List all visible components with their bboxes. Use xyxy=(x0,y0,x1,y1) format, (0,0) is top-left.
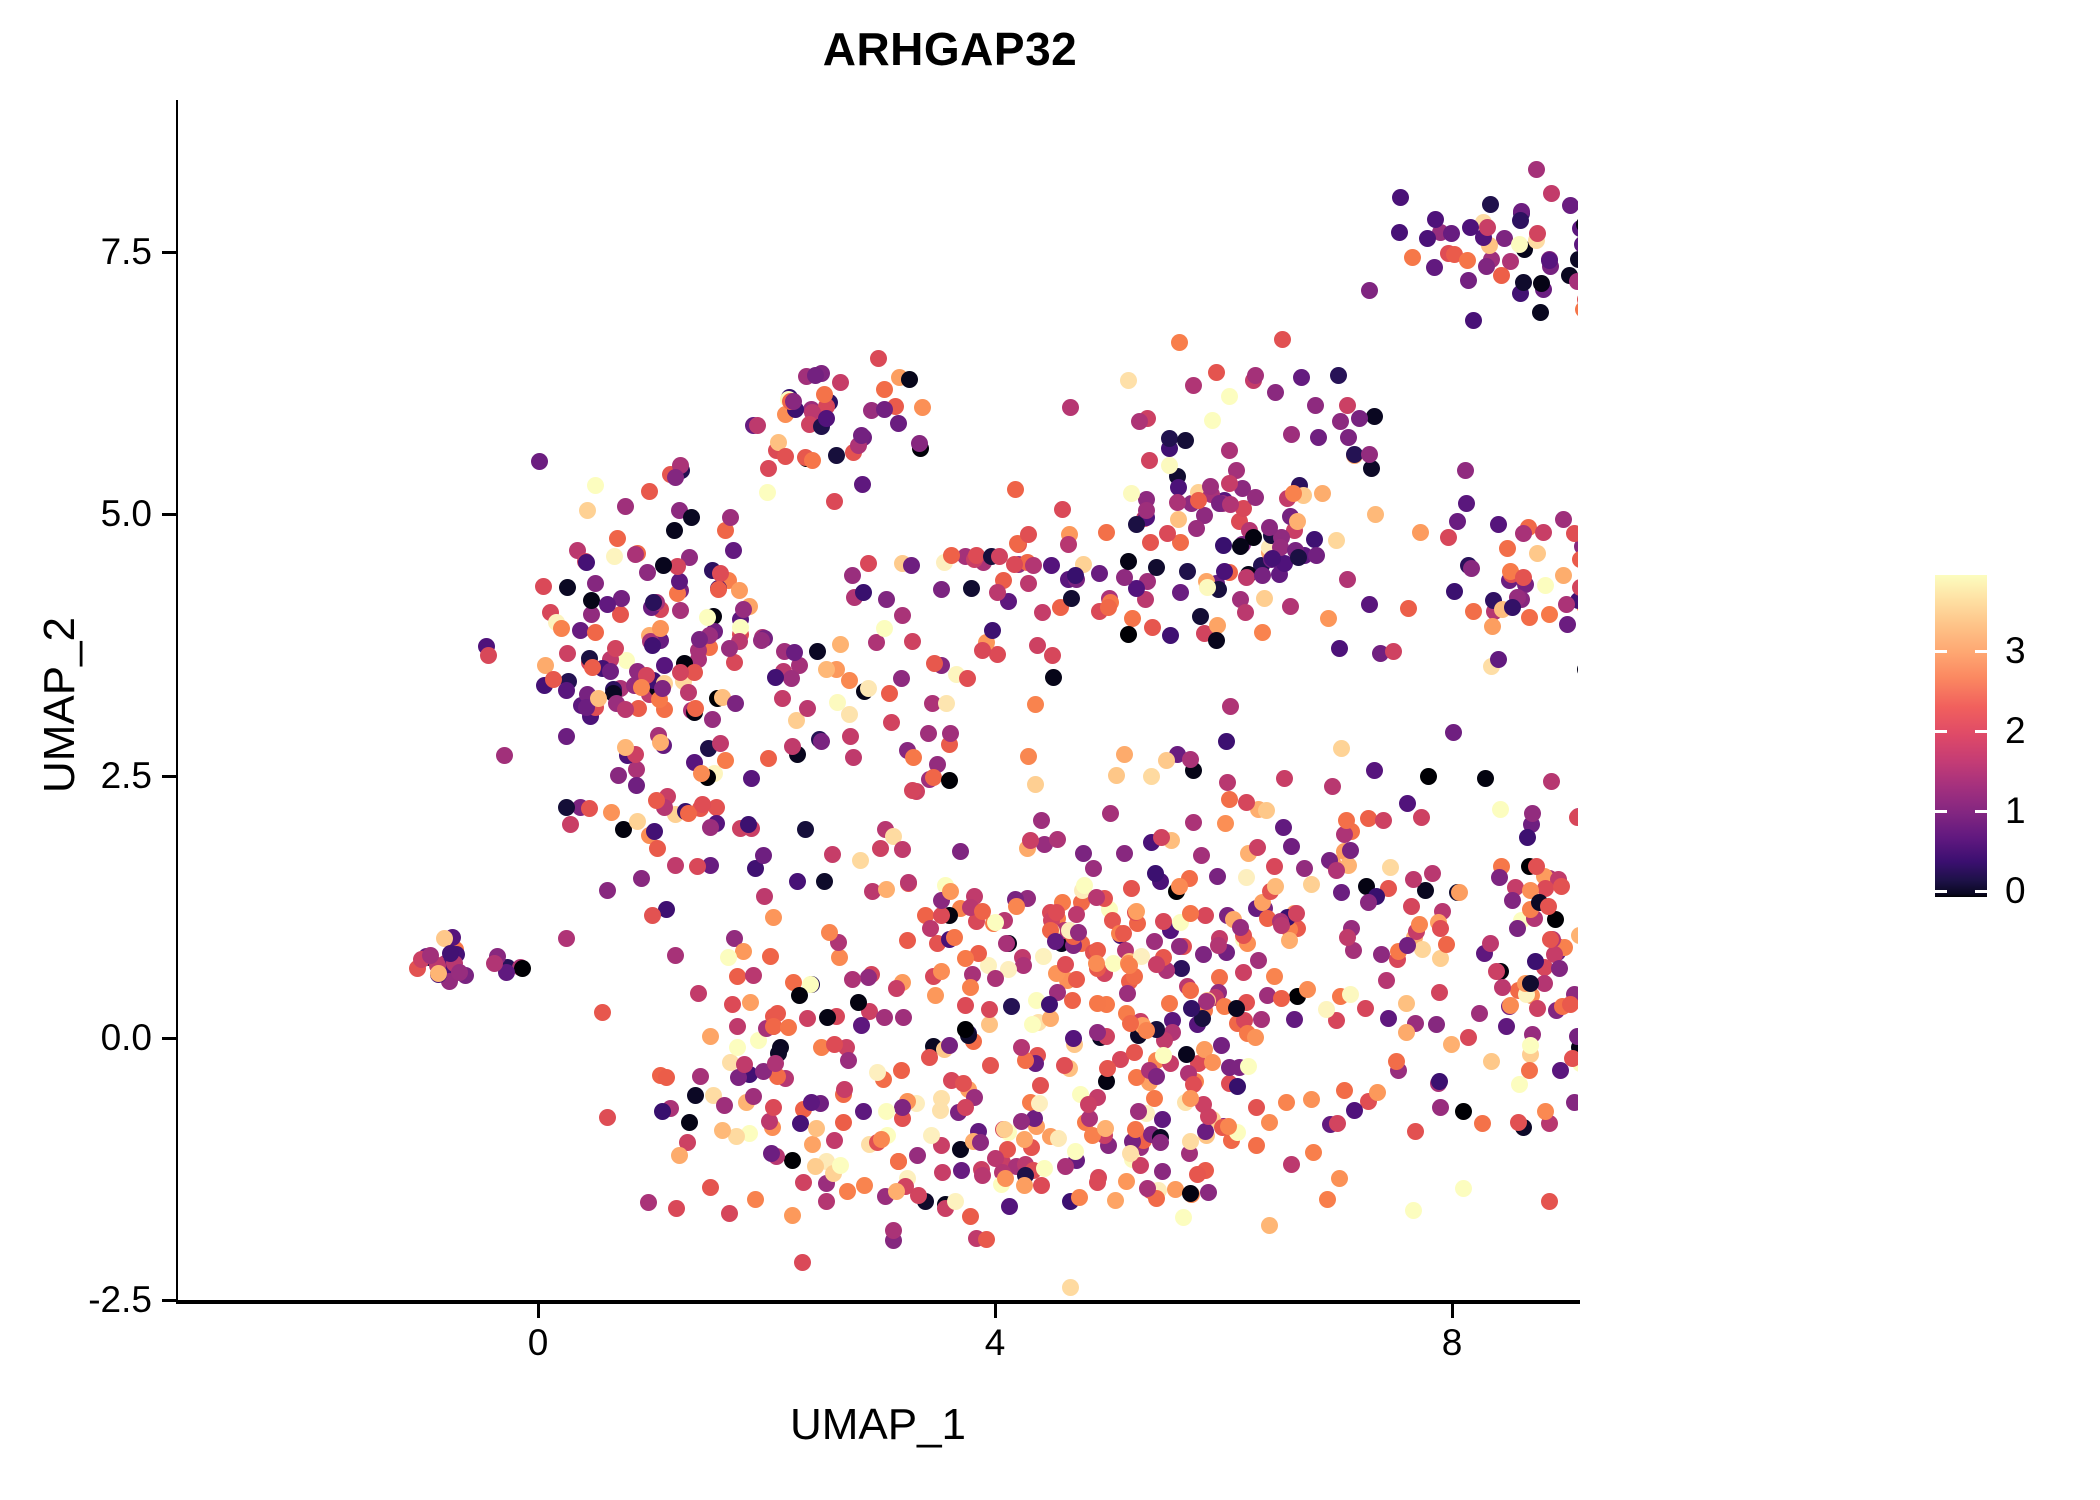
scatter-point xyxy=(1522,975,1539,992)
scatter-point xyxy=(1221,388,1238,405)
scatter-point xyxy=(804,1136,821,1153)
scatter-point xyxy=(1063,590,1080,607)
scatter-point xyxy=(1357,1000,1374,1017)
scatter-point xyxy=(1248,1099,1265,1116)
scatter-point xyxy=(731,582,748,599)
y-tick-label: 7.5 xyxy=(0,231,152,273)
scatter-point xyxy=(1566,525,1578,542)
scatter-point xyxy=(1498,1018,1515,1035)
scatter-point xyxy=(1222,496,1239,513)
scatter-point xyxy=(649,840,666,857)
scatter-point xyxy=(797,821,814,838)
scatter-point xyxy=(1558,596,1575,613)
scatter-point xyxy=(826,493,843,510)
scatter-point xyxy=(831,949,848,966)
scatter-point xyxy=(1100,599,1117,616)
scatter-point xyxy=(925,769,942,786)
scatter-point xyxy=(959,670,976,687)
scatter-point xyxy=(855,584,872,601)
scatter-point xyxy=(1562,996,1578,1013)
scatter-point xyxy=(1484,618,1501,635)
scatter-point xyxy=(1361,446,1378,463)
scatter-point xyxy=(562,816,579,833)
scatter-point xyxy=(1443,225,1460,242)
scatter-point xyxy=(850,994,867,1011)
scatter-point xyxy=(1200,1184,1217,1201)
scatter-point xyxy=(1449,513,1466,530)
scatter-point xyxy=(767,1055,784,1072)
scatter-point xyxy=(1413,809,1430,826)
scatter-point xyxy=(729,968,746,985)
scatter-point xyxy=(841,706,858,723)
scatter-point xyxy=(826,1036,843,1053)
scatter-point xyxy=(1182,1133,1199,1150)
scatter-point xyxy=(795,1174,812,1191)
scatter-point xyxy=(1331,1170,1348,1187)
scatter-point xyxy=(640,1194,657,1211)
scatter-point xyxy=(789,873,806,890)
scatter-point xyxy=(606,548,623,565)
scatter-point xyxy=(1183,1000,1200,1017)
scatter-point xyxy=(1504,892,1521,909)
scatter-point xyxy=(1076,877,1093,894)
scatter-point xyxy=(1064,992,1081,1009)
x-tick-mark xyxy=(1451,1304,1454,1318)
scatter-point xyxy=(1575,301,1578,318)
scatter-point xyxy=(1204,412,1221,429)
scatter-point xyxy=(1221,442,1238,459)
x-tick-label: 8 xyxy=(1392,1322,1512,1364)
scatter-point xyxy=(1085,860,1102,877)
scatter-point xyxy=(1431,984,1448,1001)
scatter-point xyxy=(1363,460,1380,477)
scatter-point xyxy=(1141,452,1158,469)
scatter-point xyxy=(1254,567,1271,584)
scatter-point xyxy=(1403,898,1420,915)
scatter-point xyxy=(832,636,849,653)
scatter-point xyxy=(654,680,671,697)
scatter-point xyxy=(933,581,950,598)
scatter-point xyxy=(1380,1010,1397,1027)
scatter-point xyxy=(603,804,620,821)
scatter-point xyxy=(1308,547,1325,564)
scatter-point xyxy=(1158,752,1175,769)
scatter-point xyxy=(836,1081,853,1098)
scatter-point xyxy=(894,607,911,624)
scatter-point xyxy=(1351,410,1368,427)
scatter-point xyxy=(1414,941,1431,958)
scatter-point xyxy=(1532,304,1549,321)
scatter-point xyxy=(828,447,845,464)
scatter-point xyxy=(1185,377,1202,394)
scatter-point xyxy=(1022,832,1039,849)
scatter-point xyxy=(914,399,931,416)
scatter-point xyxy=(1220,1118,1237,1135)
scatter-point xyxy=(712,735,729,752)
scatter-point xyxy=(578,554,595,571)
scatter-points-layer xyxy=(178,100,1578,1300)
scatter-point xyxy=(749,417,766,434)
scatter-point xyxy=(872,840,889,857)
scatter-point xyxy=(1057,956,1074,973)
scatter-point xyxy=(1041,996,1058,1013)
scatter-point xyxy=(558,682,575,699)
colorbar-tick-mark xyxy=(1935,650,1947,653)
scatter-point xyxy=(1003,998,1020,1015)
scatter-point xyxy=(724,996,741,1013)
scatter-point xyxy=(1192,608,1209,625)
scatter-point xyxy=(693,765,710,782)
scatter-point xyxy=(962,979,979,996)
scatter-point xyxy=(1553,878,1570,895)
scatter-point xyxy=(1182,751,1199,768)
scatter-point xyxy=(1407,1123,1424,1140)
colorbar-tick-mark xyxy=(1975,650,1987,653)
scatter-point xyxy=(1375,812,1392,829)
scatter-point xyxy=(1146,933,1163,950)
scatter-point xyxy=(1170,511,1187,528)
scatter-point xyxy=(1541,1193,1558,1210)
scatter-point xyxy=(1529,225,1546,242)
scatter-point xyxy=(1098,524,1115,541)
scatter-point xyxy=(1286,1011,1303,1028)
scatter-point xyxy=(683,509,700,526)
scatter-point xyxy=(654,1103,671,1120)
scatter-point xyxy=(888,1183,905,1200)
scatter-point xyxy=(1385,643,1402,660)
scatter-point xyxy=(1528,161,1545,178)
scatter-point xyxy=(1247,1029,1264,1046)
scatter-point xyxy=(1289,513,1306,530)
scatter-point xyxy=(1504,599,1521,616)
scatter-point xyxy=(1307,397,1324,414)
scatter-point xyxy=(816,386,833,403)
scatter-point xyxy=(617,701,634,718)
scatter-point xyxy=(942,883,959,900)
scatter-point xyxy=(587,624,604,641)
scatter-point xyxy=(1283,1156,1300,1173)
x-axis-label: UMAP_1 xyxy=(178,1400,1578,1450)
scatter-point xyxy=(1027,776,1044,793)
scatter-point xyxy=(785,393,802,410)
scatter-point xyxy=(989,584,1006,601)
scatter-point xyxy=(856,1177,873,1194)
scatter-point xyxy=(981,1001,998,1018)
scatter-point xyxy=(1278,1094,1295,1111)
scatter-point xyxy=(641,483,658,500)
scatter-point xyxy=(991,548,1008,565)
scatter-point xyxy=(926,655,943,672)
scatter-point xyxy=(1240,1058,1257,1075)
scatter-point xyxy=(844,971,861,988)
scatter-point xyxy=(1443,1036,1460,1053)
scatter-point xyxy=(1405,871,1422,888)
scatter-point xyxy=(1460,1029,1477,1046)
scatter-point xyxy=(1043,557,1060,574)
scatter-point xyxy=(613,590,630,607)
scatter-point xyxy=(920,725,937,742)
scatter-point xyxy=(1250,952,1267,969)
scatter-point xyxy=(1491,869,1508,886)
scatter-point xyxy=(1088,955,1105,972)
scatter-point xyxy=(579,502,596,519)
scatter-point xyxy=(1320,610,1337,627)
scatter-point xyxy=(1412,524,1429,541)
scatter-point xyxy=(901,371,918,388)
colorbar-tick-mark xyxy=(1975,890,1987,893)
scatter-point xyxy=(932,1102,949,1119)
scatter-point xyxy=(1249,839,1266,856)
scatter-point xyxy=(646,823,663,840)
scatter-point xyxy=(1197,1123,1214,1140)
scatter-point xyxy=(947,1193,964,1210)
scatter-point xyxy=(1210,937,1227,954)
scatter-point xyxy=(1126,1044,1143,1061)
scatter-point xyxy=(982,1057,999,1074)
scatter-point xyxy=(1062,399,1079,416)
scatter-point xyxy=(860,680,877,697)
scatter-point xyxy=(1310,429,1327,446)
scatter-point xyxy=(818,661,835,678)
scatter-point xyxy=(1253,1011,1270,1028)
scatter-point xyxy=(792,1115,809,1132)
scatter-point xyxy=(762,948,779,965)
scatter-point xyxy=(869,1064,886,1081)
scatter-point xyxy=(868,634,885,651)
scatter-point xyxy=(1528,858,1545,875)
scatter-point xyxy=(1339,397,1356,414)
scatter-point xyxy=(1446,583,1463,600)
scatter-point xyxy=(1068,971,1085,988)
scatter-point xyxy=(692,1068,709,1085)
scatter-point xyxy=(927,987,944,1004)
scatter-point xyxy=(644,907,661,924)
scatter-point xyxy=(784,1152,801,1169)
y-tick-mark xyxy=(162,251,176,254)
scatter-point xyxy=(1494,979,1511,996)
scatter-point xyxy=(1128,903,1145,920)
scatter-point xyxy=(767,669,784,686)
scatter-point xyxy=(777,448,794,465)
scatter-point xyxy=(1457,462,1474,479)
scatter-point xyxy=(1424,865,1441,882)
y-tick-mark xyxy=(162,1299,176,1302)
scatter-point xyxy=(1535,524,1552,541)
scatter-point xyxy=(1483,1053,1500,1070)
scatter-point xyxy=(942,725,959,742)
scatter-point xyxy=(1007,481,1024,498)
scatter-point xyxy=(671,1147,688,1164)
scatter-point xyxy=(1148,559,1165,576)
scatter-point xyxy=(559,579,576,596)
scatter-point xyxy=(1217,815,1234,832)
scatter-point xyxy=(1102,805,1119,822)
scatter-point xyxy=(1148,1068,1165,1085)
scatter-point xyxy=(639,564,656,581)
scatter-point xyxy=(1008,898,1025,915)
scatter-point xyxy=(807,1158,824,1175)
scatter-point xyxy=(514,960,531,977)
scatter-point xyxy=(702,819,719,836)
scatter-point xyxy=(813,733,830,750)
scatter-point xyxy=(1034,604,1051,621)
scatter-point xyxy=(1213,1037,1230,1054)
scatter-point xyxy=(890,1153,907,1170)
scatter-point xyxy=(1369,1084,1386,1101)
scatter-point xyxy=(1572,551,1578,568)
scatter-point xyxy=(745,967,762,984)
scatter-point xyxy=(1267,384,1284,401)
scatter-point xyxy=(587,477,604,494)
scatter-point xyxy=(1465,312,1482,329)
scatter-point xyxy=(1142,534,1159,551)
scatter-point xyxy=(1339,929,1356,946)
scatter-point xyxy=(853,1017,870,1034)
scatter-point xyxy=(1398,995,1415,1012)
scatter-point xyxy=(720,949,737,966)
scatter-point xyxy=(1465,603,1482,620)
scatter-point xyxy=(747,1191,764,1208)
scatter-point xyxy=(759,484,776,501)
scatter-point xyxy=(480,647,497,664)
scatter-point xyxy=(1432,920,1449,937)
scatter-point xyxy=(691,631,708,648)
scatter-point xyxy=(1477,770,1494,787)
scatter-point xyxy=(1054,501,1071,518)
scatter-point xyxy=(1569,809,1578,826)
scatter-point xyxy=(668,1200,685,1217)
scatter-point xyxy=(1154,1163,1171,1180)
scatter-point xyxy=(1332,413,1349,430)
scatter-point xyxy=(1338,812,1355,829)
scatter-point xyxy=(1361,282,1378,299)
scatter-point xyxy=(996,1121,1013,1138)
scatter-point xyxy=(1067,1143,1084,1160)
scatter-point xyxy=(794,1254,811,1271)
scatter-point xyxy=(1208,364,1225,381)
scatter-point xyxy=(1254,624,1271,641)
scatter-point xyxy=(804,452,821,469)
x-tick-label: 4 xyxy=(935,1322,1055,1364)
scatter-point xyxy=(722,509,739,526)
scatter-point xyxy=(894,841,911,858)
scatter-point xyxy=(1115,925,1132,942)
scatter-point xyxy=(1199,579,1216,596)
colorbar-tick-mark xyxy=(1975,810,1987,813)
scatter-point xyxy=(1331,640,1348,657)
scatter-point xyxy=(1571,927,1578,944)
scatter-point xyxy=(644,637,661,654)
scatter-point xyxy=(860,969,877,986)
scatter-point xyxy=(1122,1015,1139,1032)
scatter-point xyxy=(1189,1166,1206,1183)
scatter-point xyxy=(609,530,626,547)
scatter-point xyxy=(1543,185,1560,202)
scatter-point xyxy=(1120,553,1137,570)
scatter-point xyxy=(633,870,650,887)
scatter-point xyxy=(1459,252,1476,269)
scatter-point xyxy=(735,601,752,618)
colorbar-tick-label: 3 xyxy=(2005,630,2026,672)
scatter-point xyxy=(729,1039,746,1056)
scatter-point xyxy=(602,663,619,680)
scatter-point xyxy=(710,581,727,598)
scatter-point xyxy=(1216,563,1233,580)
scatter-point xyxy=(1515,569,1532,586)
scatter-point xyxy=(1152,1134,1169,1151)
scatter-point xyxy=(1519,829,1536,846)
scatter-point xyxy=(1099,1060,1116,1077)
scatter-point xyxy=(745,1088,762,1105)
scatter-point xyxy=(702,1028,719,1045)
scatter-point xyxy=(1328,862,1345,879)
scatter-point xyxy=(1033,1177,1050,1194)
scatter-point xyxy=(881,685,898,702)
scatter-point xyxy=(972,1134,989,1151)
scatter-point xyxy=(941,1037,958,1054)
scatter-point xyxy=(1342,986,1359,1003)
scatter-point xyxy=(735,943,752,960)
scatter-point xyxy=(451,964,468,981)
scatter-point xyxy=(1044,647,1061,664)
umap-scatter-plot: ARHGAP32 -2.50.02.55.07.5 048 UMAP_1 UMA… xyxy=(0,0,2100,1500)
scatter-point xyxy=(1171,334,1188,351)
scatter-point xyxy=(1303,876,1320,893)
scatter-point xyxy=(1366,408,1383,425)
scatter-point xyxy=(873,1131,890,1148)
scatter-point xyxy=(690,985,707,1002)
scatter-point xyxy=(656,657,673,674)
scatter-point xyxy=(893,1062,910,1079)
scatter-point xyxy=(1460,272,1477,289)
scatter-point xyxy=(1399,795,1416,812)
scatter-point xyxy=(1455,1103,1472,1120)
scatter-point xyxy=(699,609,716,626)
scatter-point xyxy=(1266,968,1283,985)
scatter-point xyxy=(627,546,644,563)
scatter-point xyxy=(818,410,835,427)
scatter-point xyxy=(1144,619,1161,636)
scatter-point xyxy=(984,622,1001,639)
scatter-point xyxy=(1541,606,1558,623)
scatter-point xyxy=(1267,878,1284,895)
scatter-point xyxy=(1569,273,1578,290)
scatter-point xyxy=(1333,884,1350,901)
scatter-point xyxy=(1089,1174,1106,1191)
scatter-point xyxy=(1068,906,1085,923)
scatter-point xyxy=(680,684,697,701)
x-tick-label: 0 xyxy=(478,1322,598,1364)
scatter-point xyxy=(1440,529,1457,546)
scatter-point xyxy=(1360,894,1377,911)
scatter-point xyxy=(558,728,575,745)
scatter-point xyxy=(1116,746,1133,763)
scatter-point xyxy=(1511,236,1528,253)
scatter-point xyxy=(1515,525,1532,542)
scatter-point xyxy=(1490,651,1507,668)
scatter-point xyxy=(1229,1078,1246,1095)
scatter-point xyxy=(783,670,800,687)
scatter-point xyxy=(1281,932,1298,949)
y-axis-label: UMAP_2 xyxy=(35,385,85,1025)
x-axis-line xyxy=(176,1300,1580,1304)
scatter-point xyxy=(1193,847,1210,864)
scatter-point xyxy=(1143,768,1160,785)
scatter-point xyxy=(1065,1030,1082,1047)
scatter-point xyxy=(1566,1094,1578,1111)
scatter-point xyxy=(721,1205,738,1222)
scatter-point xyxy=(1020,575,1037,592)
